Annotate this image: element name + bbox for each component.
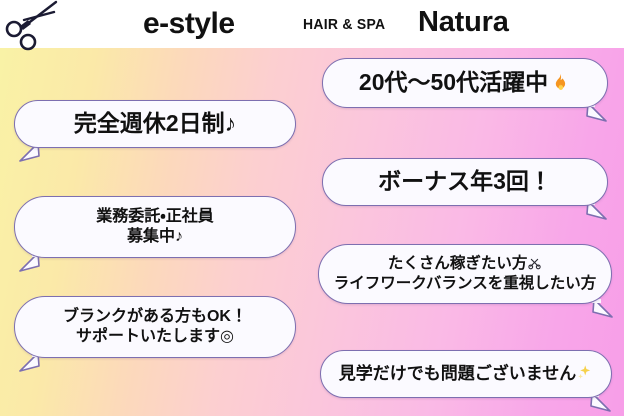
bubble-right-3-line2: ライフワークバランスを重視したい方 bbox=[334, 275, 596, 292]
bubble-right-3: たくさん稼ぎたい方ライフワークバランスを重視したい方 bbox=[318, 244, 612, 304]
bubble-right-1-label: 20代〜50代活躍中 bbox=[359, 69, 548, 95]
recruitment-banner: e-style HAIR & SPA Natura 完全週休2日制♪ 業務委託・… bbox=[0, 0, 624, 416]
bubble-right-1: 20代〜50代活躍中 bbox=[322, 58, 608, 108]
brand-tagline-hair-and-spa: HAIR & SPA bbox=[303, 16, 385, 34]
bubble-right-2: ボーナス年3回！ bbox=[322, 158, 608, 206]
brand-logo-estyle: e-style bbox=[143, 7, 235, 41]
scissors-emoji-icon bbox=[527, 255, 542, 270]
bubble-right-3-line1: たくさん稼ぎたい方 bbox=[388, 255, 528, 272]
bubble-left-2-text: 業務委託・正社員 募集中♪ bbox=[86, 207, 223, 248]
bubble-left-3: ブランクがある方もOK！ サポートいたします◎ bbox=[14, 296, 296, 358]
fire-icon bbox=[548, 72, 571, 95]
bubble-right-4: 見学だけでも問題ございません bbox=[320, 350, 612, 398]
bubble-left-1: 完全週休2日制♪ bbox=[14, 100, 296, 148]
header-band: e-style HAIR & SPA Natura bbox=[0, 0, 624, 48]
bubble-right-4-text: 見学だけでも問題ございません bbox=[329, 363, 604, 385]
bubble-right-2-text: ボーナス年3回！ bbox=[368, 167, 562, 196]
scissors-icon bbox=[4, 0, 64, 54]
bubble-right-1-text: 20代〜50代活躍中 bbox=[349, 68, 581, 97]
bubble-left-1-text: 完全週休2日制♪ bbox=[64, 109, 246, 138]
bubble-left-2: 業務委託・正社員 募集中♪ bbox=[14, 196, 296, 258]
bubble-right-3-tail bbox=[592, 299, 614, 319]
bubble-right-4-label: 見学だけでも問題ございません bbox=[339, 364, 577, 383]
sparkles-icon bbox=[576, 364, 593, 381]
brand-logo-natura: Natura bbox=[418, 5, 509, 39]
bubble-right-3-text: たくさん稼ぎたい方ライフワークバランスを重視したい方 bbox=[324, 254, 606, 294]
bubble-left-3-text: ブランクがある方もOK！ サポートいたします◎ bbox=[53, 307, 257, 348]
